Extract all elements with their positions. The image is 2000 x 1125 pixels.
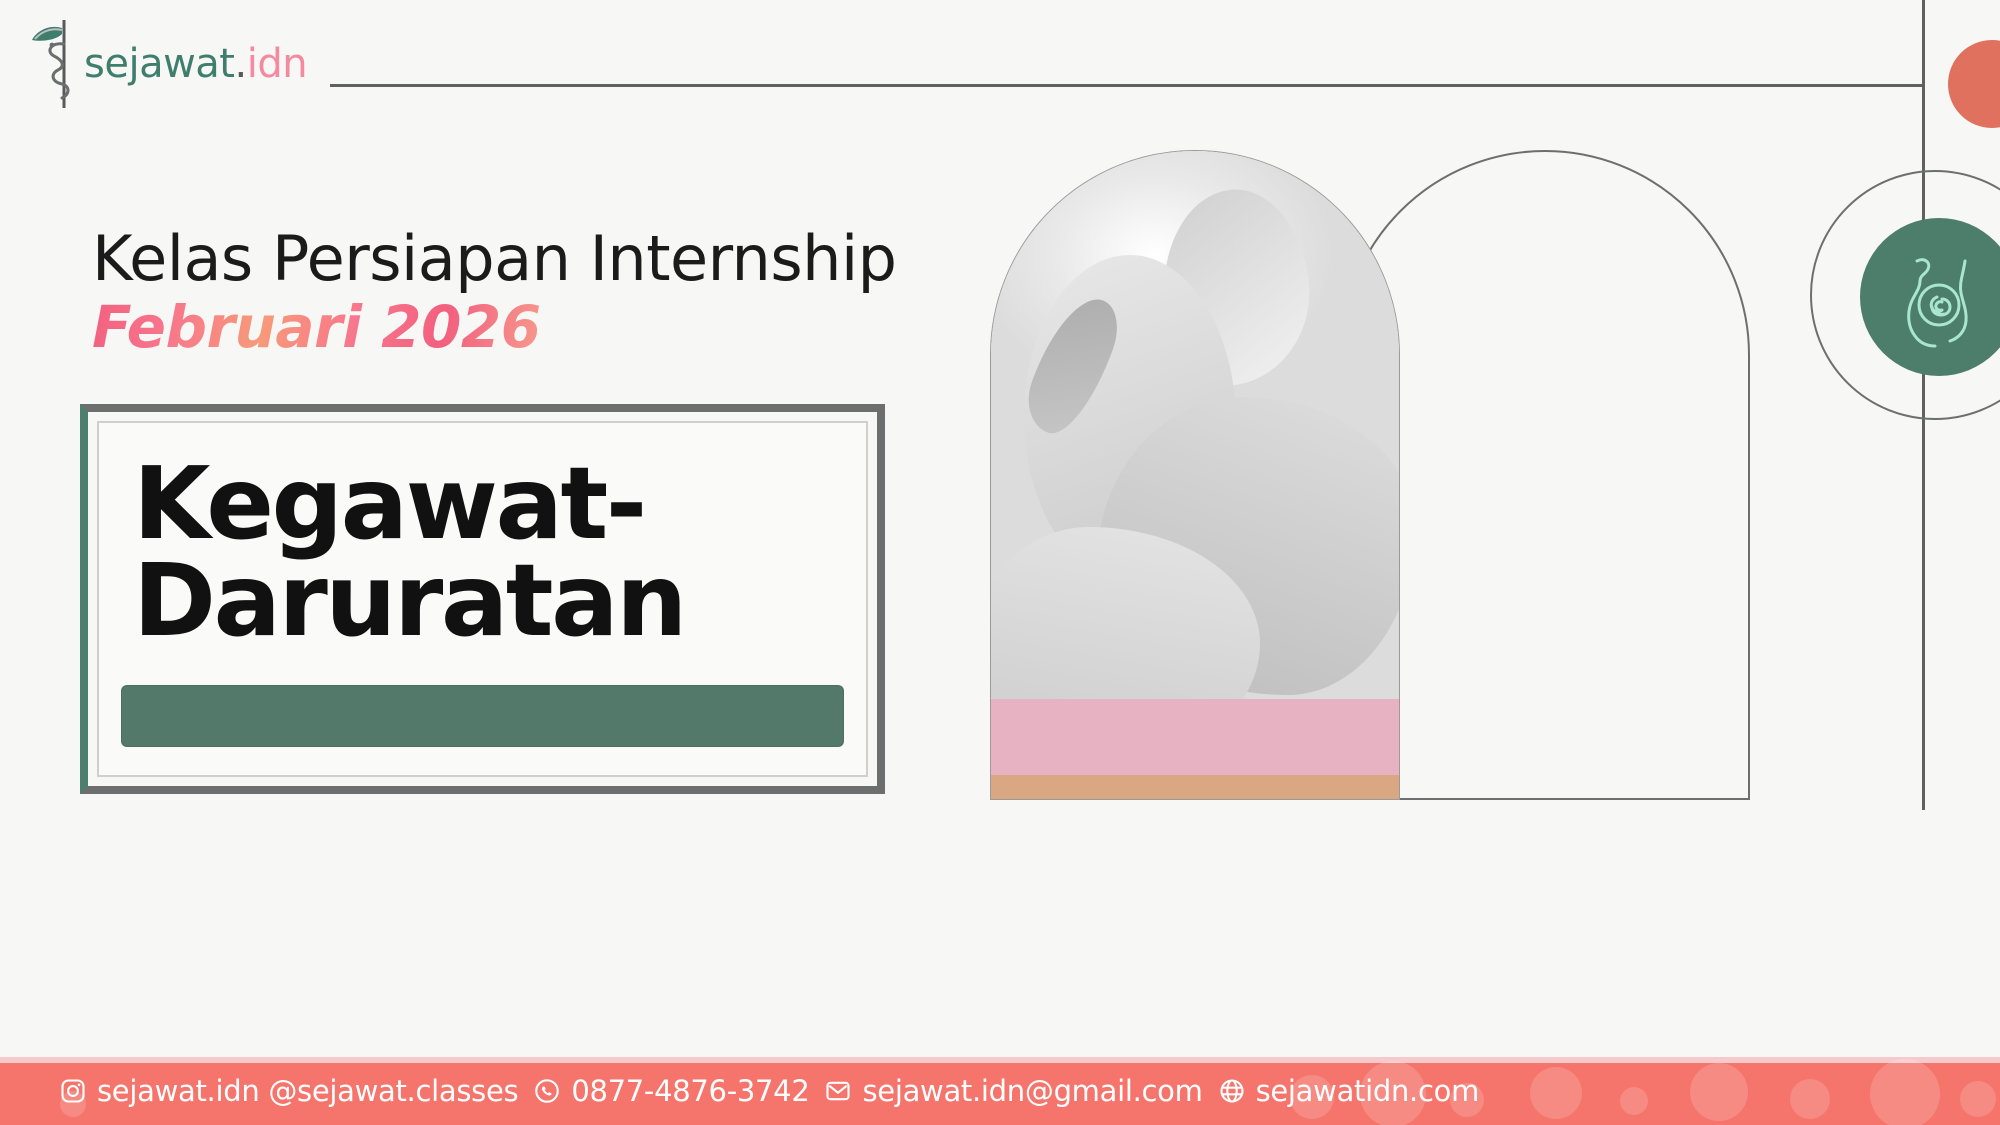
globe-icon	[1217, 1076, 1247, 1106]
arch-photo-frame	[990, 150, 1400, 800]
photo-band-pink	[991, 699, 1399, 775]
brand-dot: .	[234, 41, 246, 87]
page-title: Kegawat- Daruratan	[133, 455, 846, 649]
rod-of-asclepius-icon	[28, 18, 80, 110]
contact-banner: sejawat.idn @sejawat.classes 0877-4876-3…	[0, 1057, 2000, 1125]
date-text: Februari 2026	[92, 296, 541, 360]
banner-top-accent	[0, 1057, 2000, 1063]
title-card: Kegawat- Daruratan	[80, 404, 885, 794]
subtitle-placeholder-bar	[121, 685, 844, 747]
brand-wordmark: sejawat.idn	[84, 41, 307, 87]
arch-photo	[990, 150, 1400, 800]
email-icon	[823, 1076, 853, 1106]
arch-outline-decoration	[1340, 150, 1750, 800]
photo-band-tan	[991, 775, 1399, 799]
contact-website[interactable]: sejawatidn.com	[1217, 1074, 1479, 1108]
instagram-icon	[58, 1076, 88, 1106]
contact-whatsapp[interactable]: 0877-4876-3742	[532, 1074, 809, 1108]
title-card-inner: Kegawat- Daruratan	[97, 421, 868, 777]
brand-logo[interactable]: sejawat.idn	[28, 18, 328, 110]
pregnancy-icon	[1887, 245, 1991, 349]
brand-word-2: idn	[247, 41, 307, 87]
contact-list: sejawat.idn @sejawat.classes 0877-4876-3…	[0, 1074, 1479, 1108]
slide-canvas: sejawat.idn Kelas Persiapan Internship F…	[0, 0, 2000, 1125]
coral-dot-decoration	[1948, 40, 2000, 128]
horizontal-rule	[330, 84, 1925, 87]
eyebrow-text: Kelas Persiapan Internship	[92, 228, 897, 290]
contact-instagram[interactable]: sejawat.idn @sejawat.classes	[58, 1074, 518, 1108]
contact-whatsapp-label: 0877-4876-3742	[571, 1074, 809, 1108]
contact-instagram-label: sejawat.idn @sejawat.classes	[97, 1074, 518, 1108]
whatsapp-icon	[532, 1076, 562, 1106]
contact-email-label: sejawat.idn@gmail.com	[862, 1074, 1202, 1108]
contact-email[interactable]: sejawat.idn@gmail.com	[823, 1074, 1202, 1108]
brand-word-1: sejawat	[84, 41, 234, 87]
contact-website-label: sejawatidn.com	[1256, 1074, 1479, 1108]
